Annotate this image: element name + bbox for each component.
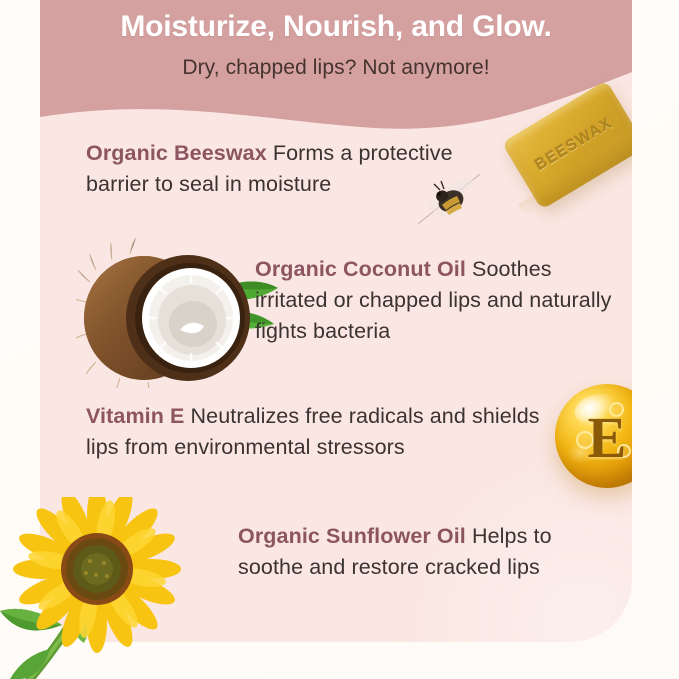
ingredient-row-beeswax: Organic Beeswax Forms a protective barri… <box>86 138 506 200</box>
page-title: Moisturize, Nourish, and Glow. <box>40 10 632 45</box>
sunflower-icon <box>0 497 202 679</box>
vitamin-e-capsule-icon: E <box>546 378 632 500</box>
ingredient-row-sunflower-oil: Organic Sunflower Oil Helps to soothe an… <box>238 521 598 583</box>
coconut-shape <box>76 238 281 388</box>
capsule-letter: E <box>546 409 632 467</box>
ingredient-row-vitamin-e: Vitamin E Neutralizes free radicals and … <box>86 401 556 463</box>
infographic-page: Moisturize, Nourish, and Glow. Dry, chap… <box>0 0 679 679</box>
beeswax-bar-icon <box>495 90 632 240</box>
page-subtitle: Dry, chapped lips? Not anymore! <box>40 56 632 80</box>
ingredient-name-vitamin-e: Vitamin E <box>86 404 184 428</box>
ingredient-name-sunflower-oil: Organic Sunflower Oil <box>238 524 466 548</box>
ingredient-row-coconut-oil: Organic Coconut Oil Soothes irritated or… <box>255 254 615 347</box>
ingredient-name-beeswax: Organic Beeswax <box>86 141 267 165</box>
coconut-icon <box>76 238 281 388</box>
ingredient-name-coconut-oil: Organic Coconut Oil <box>255 257 466 281</box>
sunflower-shape <box>0 497 202 679</box>
